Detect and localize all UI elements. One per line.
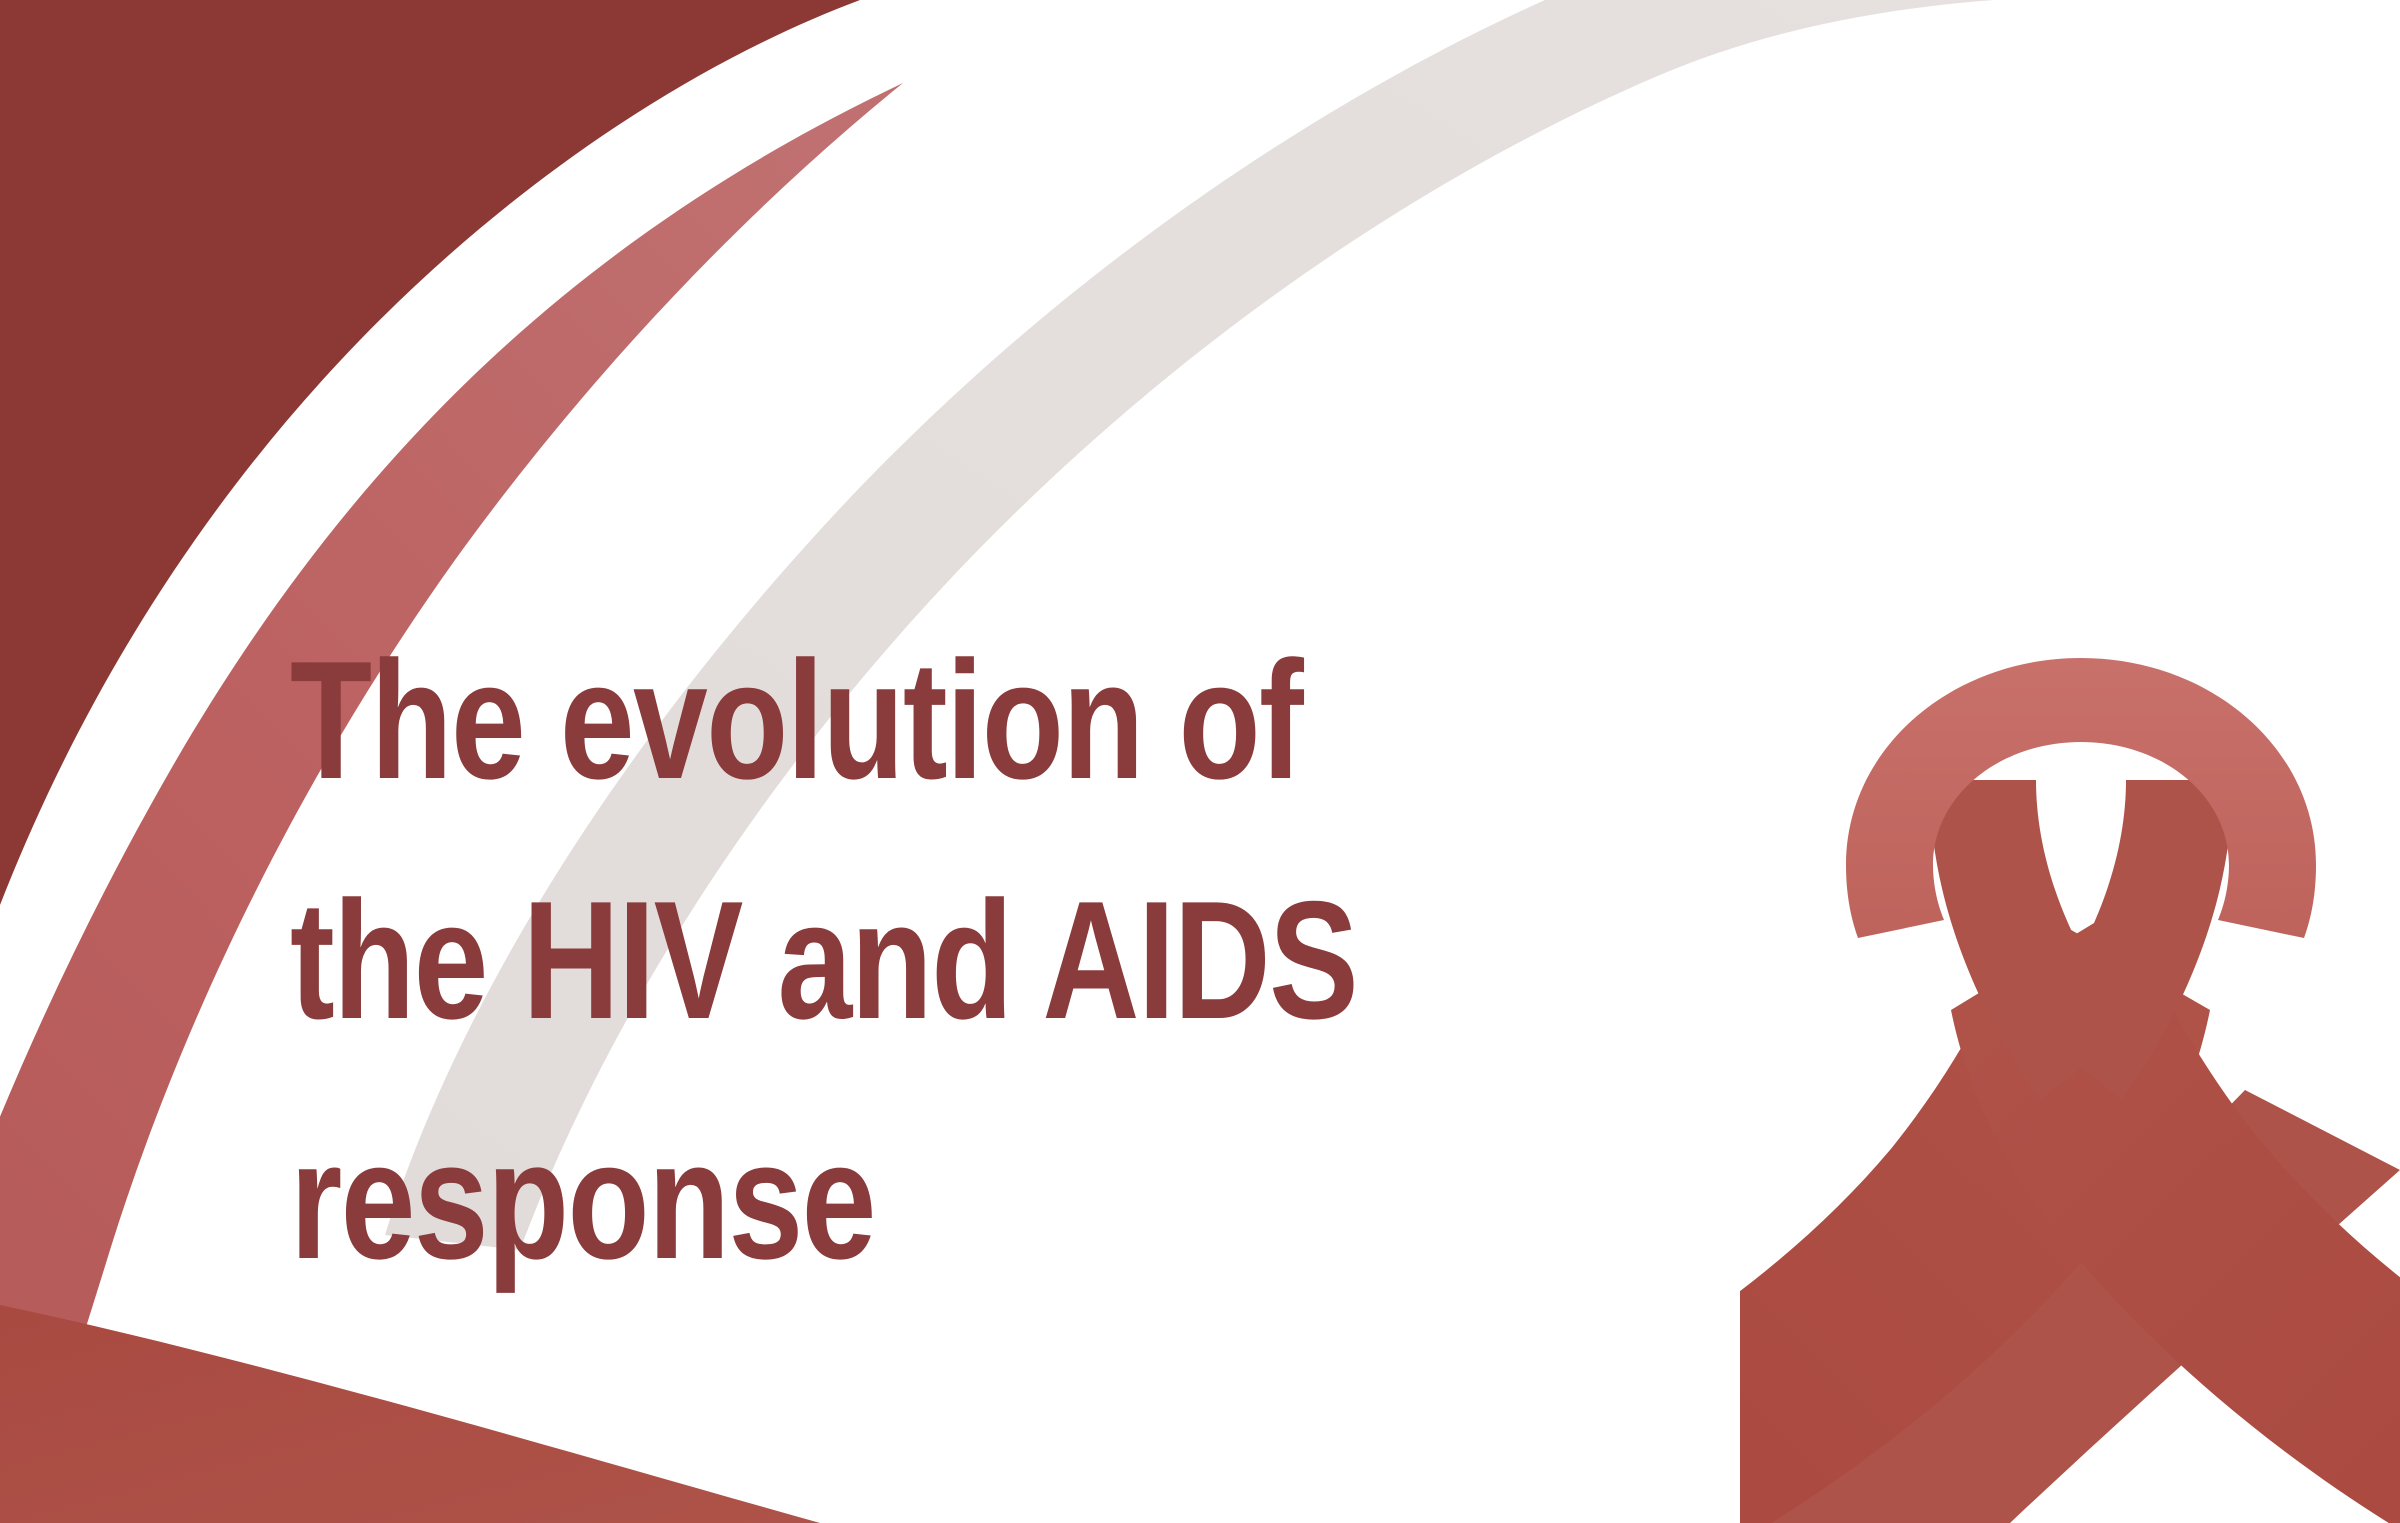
- page-title: The evolution of the HIV and AIDS respon…: [290, 600, 1850, 1320]
- title-line-2: the HIV and AIDS: [290, 840, 1538, 1080]
- ribbon-loop: [1846, 658, 2316, 938]
- title-line-3: response: [290, 1080, 1538, 1320]
- title-line-1: The evolution of: [290, 600, 1538, 840]
- title-slide: The evolution of the HIV and AIDS respon…: [0, 0, 2400, 1523]
